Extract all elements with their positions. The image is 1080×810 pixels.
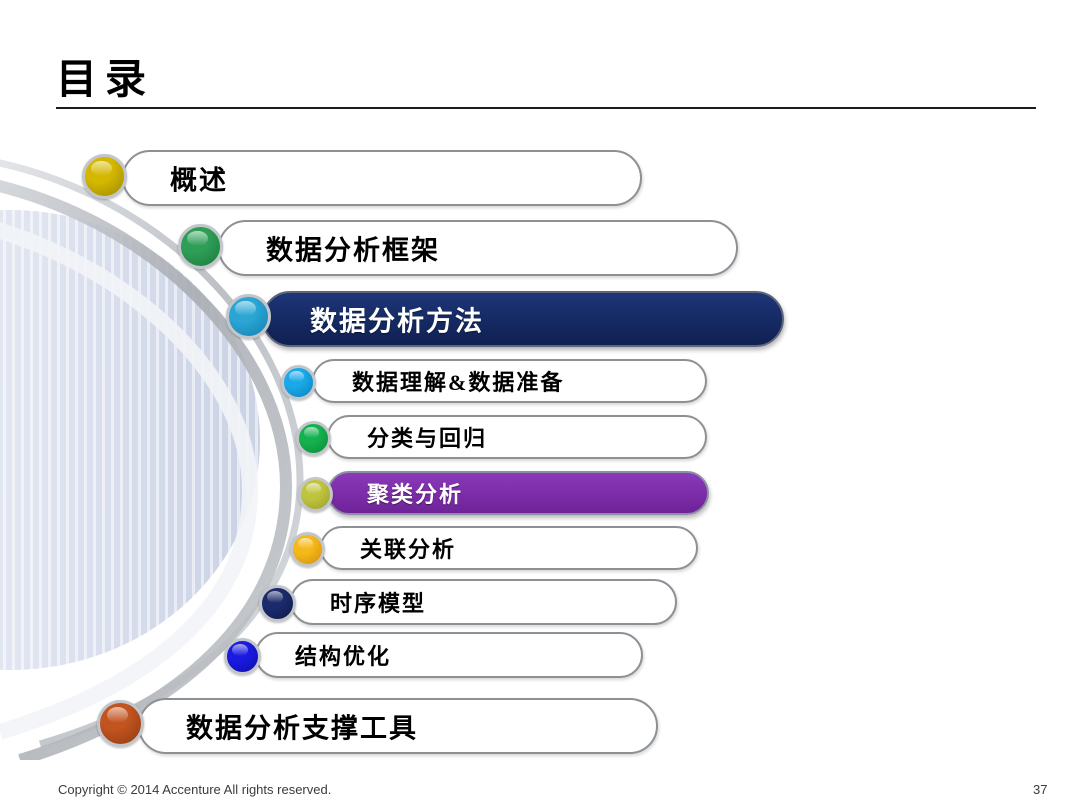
toc-item-methods[interactable]: 数据分析方法	[262, 291, 784, 347]
toc-item-label: 时序模型	[330, 586, 426, 618]
toc-item-label: 结构优化	[295, 639, 391, 671]
toc-item-label: 聚类分析	[367, 477, 463, 509]
bullet-olive-icon[interactable]	[298, 477, 333, 512]
toc-item-label: 数据分析框架	[266, 229, 440, 268]
title-block: 目录	[56, 58, 1036, 109]
bullet-gloss	[298, 538, 313, 550]
toc-item-label: 数据分析方法	[310, 300, 484, 339]
bullet-blue-icon[interactable]	[224, 638, 261, 675]
bullet-gloss	[267, 591, 283, 603]
toc-item-label: 关联分析	[360, 532, 456, 564]
bullet-cyan-icon[interactable]	[226, 294, 271, 339]
bullet-gloss	[232, 644, 248, 656]
bullet-gloss	[306, 483, 321, 495]
slide-canvas: 目录 概述数据分析框架数据分析方法数据理解&数据准备分类与回归聚类分析关联分析时…	[0, 0, 1080, 810]
toc-item-structure-optimization[interactable]: 结构优化	[255, 632, 643, 678]
toc-item-label: 分类与回归	[367, 421, 487, 453]
toc-item-overview[interactable]: 概述	[122, 150, 642, 206]
page-title: 目录	[56, 58, 1036, 101]
bullet-emerald-icon[interactable]	[296, 421, 331, 456]
toc-item-classification-regression[interactable]: 分类与回归	[327, 415, 707, 459]
bullet-green-icon[interactable]	[178, 224, 223, 269]
toc-item-data-understanding[interactable]: 数据理解&数据准备	[312, 359, 707, 403]
striped-half-disc	[0, 210, 260, 670]
bullet-gloss	[91, 161, 111, 177]
bullet-lightblue-icon[interactable]	[281, 365, 316, 400]
bullet-gloss	[187, 231, 207, 247]
toc-item-association-analysis[interactable]: 关联分析	[320, 526, 698, 570]
bullet-gloss	[304, 427, 319, 439]
toc-item-label: 数据分析支撑工具	[186, 707, 418, 746]
bullet-amber-icon[interactable]	[290, 532, 325, 567]
toc-item-support-tools[interactable]: 数据分析支撑工具	[138, 698, 658, 754]
toc-item-label: 数据理解&数据准备	[352, 365, 564, 397]
bullet-navy-icon[interactable]	[259, 585, 296, 622]
copyright-text: Copyright © 2014 Accenture All rights re…	[58, 782, 331, 797]
title-underline	[56, 107, 1036, 109]
toc-item-time-series[interactable]: 时序模型	[290, 579, 677, 625]
bullet-gold-icon[interactable]	[82, 154, 127, 199]
toc-item-framework[interactable]: 数据分析框架	[218, 220, 738, 276]
page-number: 37	[1033, 782, 1047, 797]
bullet-gloss	[235, 301, 255, 317]
toc-item-cluster-analysis[interactable]: 聚类分析	[327, 471, 709, 515]
bullet-rust-icon[interactable]	[97, 700, 144, 747]
toc-item-label: 概述	[170, 159, 228, 198]
bullet-gloss	[107, 707, 128, 723]
bullet-gloss	[289, 371, 304, 383]
